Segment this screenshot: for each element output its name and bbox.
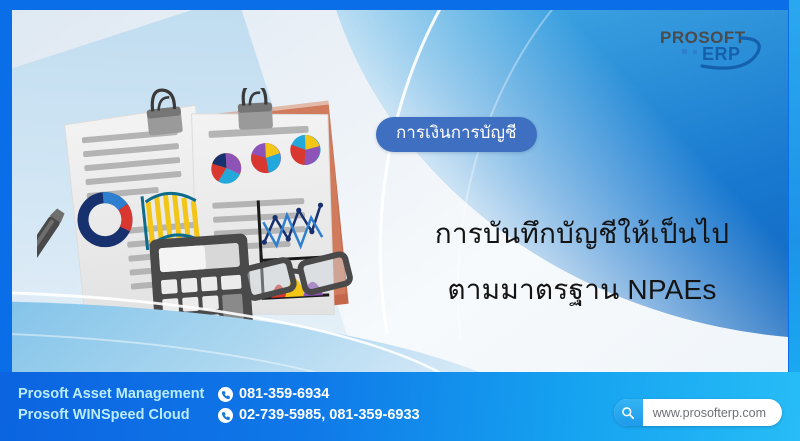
contact-row: Prosoft WINSpeed Cloud 02-739-5985, 081-… [18,405,420,426]
website-url: www.prosofterp.com [643,406,782,420]
prosoft-erp-logo: PROSOFT ERP [654,24,766,72]
category-badge: การเงินการบัญชี [376,117,537,152]
phone-icon [218,408,233,423]
contact-list: Prosoft Asset Management 081-359-6934 Pr… [18,384,420,426]
product-name: Prosoft WINSpeed Cloud [18,405,218,426]
phone-number[interactable]: 081-359-6934 [239,384,329,405]
headline-line-2: ตามมาตรฐาน NPAEs [372,262,788,318]
search-icon[interactable] [614,399,643,426]
svg-text:ERP: ERP [702,44,741,64]
headline-line-1: การบันทึกบัญชีให้เป็นไป [372,206,788,262]
website-search-pill[interactable]: www.prosofterp.com [614,399,782,426]
contact-footer: Prosoft Asset Management 081-359-6934 Pr… [0,372,800,441]
phone-number[interactable]: 02-739-5985, 081-359-6933 [239,405,420,426]
phone-icon [218,387,233,402]
contact-row: Prosoft Asset Management 081-359-6934 [18,384,420,405]
product-name: Prosoft Asset Management [18,384,218,405]
page-title: การบันทึกบัญชีให้เป็นไป ตามมาตรฐาน NPAEs [372,206,788,318]
promo-banner: การเงินการบัญชี การบันทึกบัญชีให้เป็นไป … [0,0,800,441]
